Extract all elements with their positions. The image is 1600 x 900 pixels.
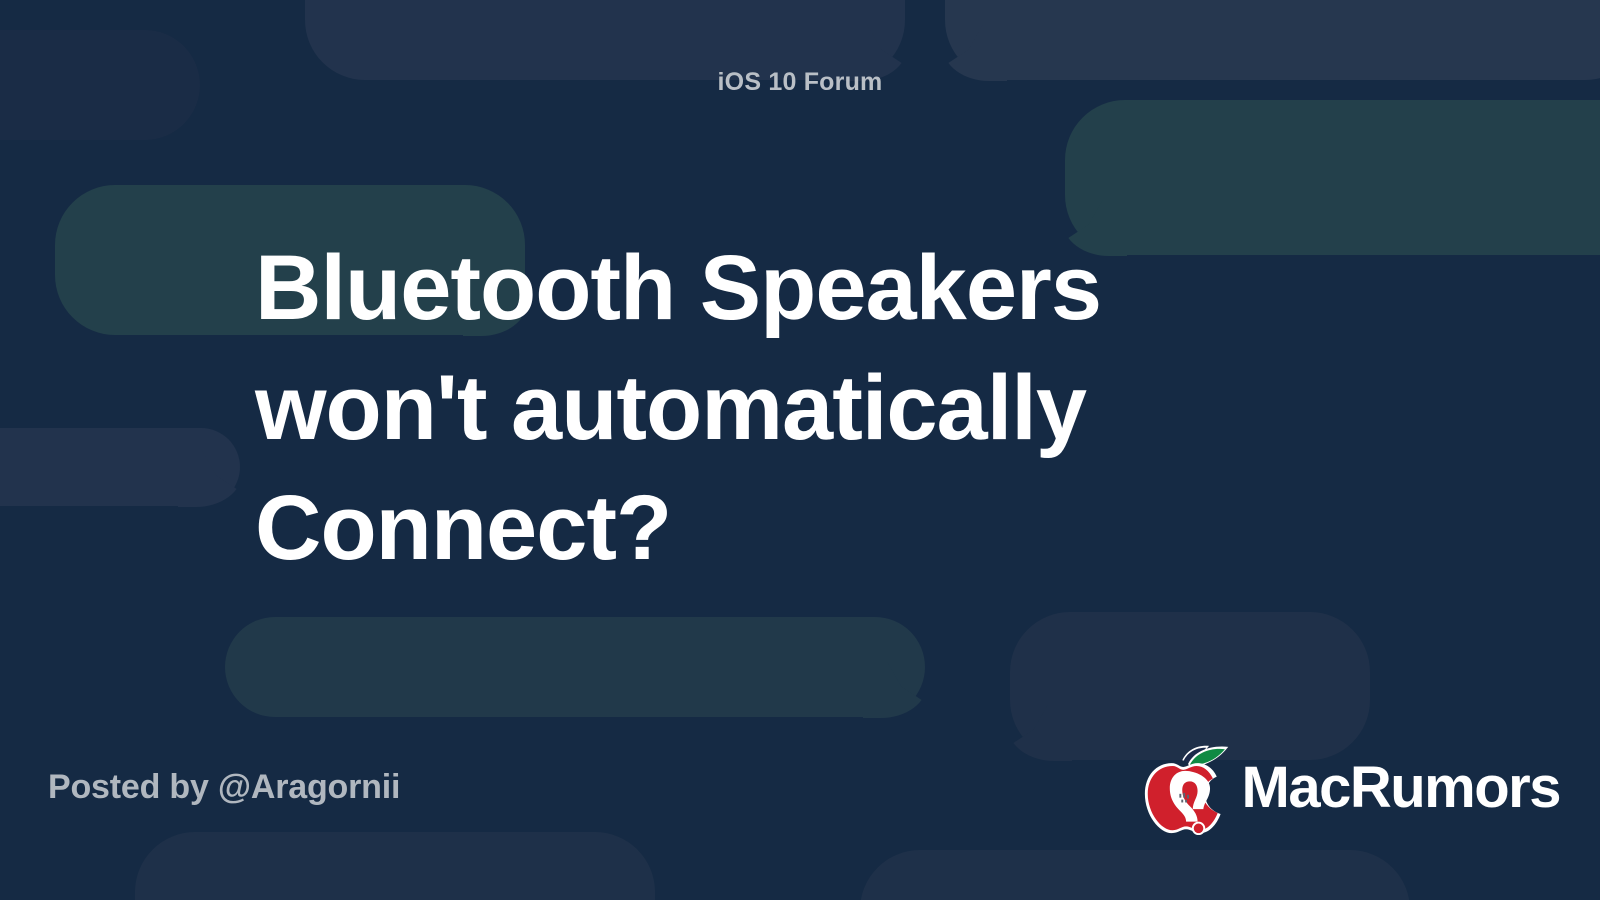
- page-title: Bluetooth Speakers won't automatically C…: [255, 228, 1355, 588]
- share-card: iOS 10 Forum Bluetooth Speakers won't au…: [0, 0, 1600, 900]
- macrumors-logo: MacRumors: [1140, 740, 1560, 840]
- forum-label: iOS 10 Forum: [0, 68, 1600, 97]
- post-author: Posted by @Aragornii: [48, 768, 400, 807]
- macrumors-apple-question-mark-icon: [1140, 744, 1236, 836]
- macrumors-wordmark: MacRumors: [1242, 759, 1560, 821]
- card-content: iOS 10 Forum Bluetooth Speakers won't au…: [0, 0, 1600, 900]
